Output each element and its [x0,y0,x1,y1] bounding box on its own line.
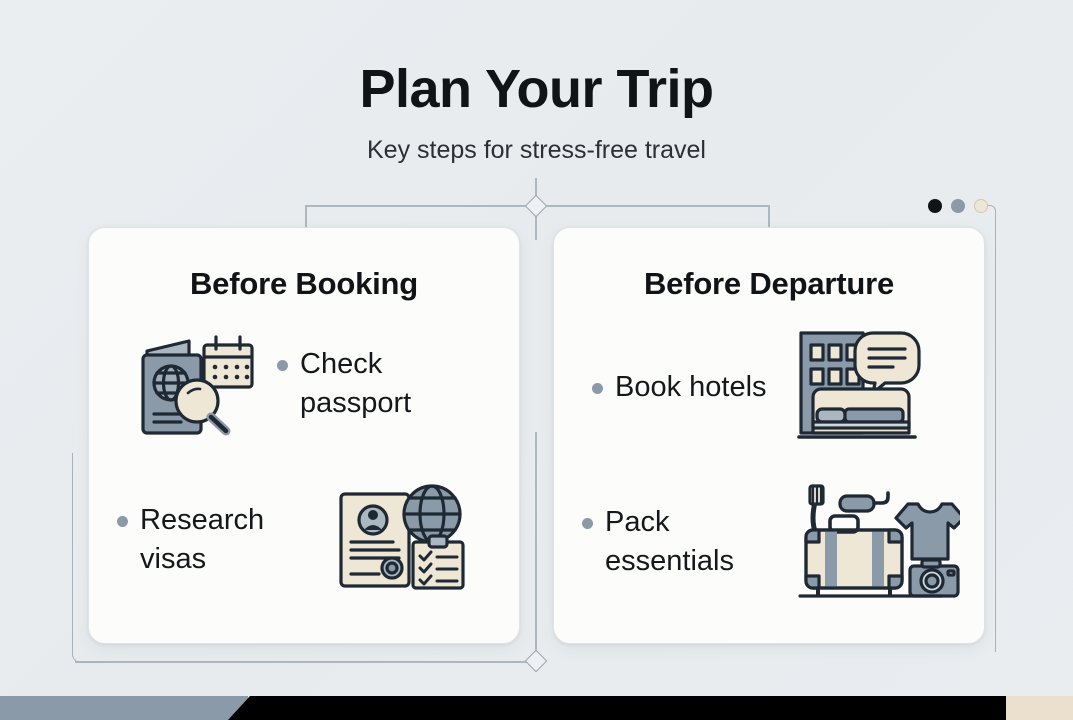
visa-document-globe-checklist-icon [333,478,473,601]
bullet-research-visas: Research visas [117,501,315,578]
list-item-label: Book hotels [615,368,767,406]
progress-dot-3[interactable] [974,199,988,213]
progress-dot-1[interactable] [928,199,942,213]
progress-dots[interactable] [928,199,988,213]
accent-bar-black [228,696,1006,720]
list-item[interactable]: Research visas [89,478,519,601]
bullet-dot [277,360,288,371]
page-title: Plan Your Trip [0,62,1073,116]
card-before-departure[interactable]: Before Departure Book hotels [553,227,985,644]
hotel-building-bed-icon [789,325,921,450]
diamond-node-bottom [525,650,548,673]
card-title-before-booking: Before Booking [89,266,519,302]
progress-dot-2[interactable] [951,199,965,213]
list-item[interactable]: Check passport [89,325,519,442]
bullet-dot [582,518,593,529]
connector-line-center-vertical [535,432,537,654]
bullet-dot [117,516,128,527]
card-title-before-departure: Before Departure [554,266,984,302]
page-subtitle: Key steps for stress-free travel [0,138,1073,163]
header: Plan Your Trip Key steps for stress-free… [0,0,1073,163]
list-item-label: Pack essentials [605,503,780,580]
list-item-label: Research visas [140,501,315,578]
list-item-label: Check passport [300,345,475,422]
bullet-check-passport: Check passport [277,345,475,422]
diamond-node-top [525,195,548,218]
bullet-dot [592,383,603,394]
passport-calendar-magnifier-icon [131,325,259,442]
suitcase-packing-icon [792,478,960,605]
connector-line-center-below-diamond [535,214,537,240]
connector-line-bottom-horizontal [75,661,530,663]
list-item[interactable]: Pack essentials [554,478,984,605]
accent-bar-cream [1006,696,1073,720]
accent-bar-slate [0,696,248,720]
bullet-book-hotels: Book hotels [592,368,767,406]
card-before-booking[interactable]: Before Booking [88,227,520,644]
bullet-pack-essentials: Pack essentials [582,503,780,580]
list-item[interactable]: Book hotels [554,325,984,450]
bottom-accent-bar [0,696,1073,720]
